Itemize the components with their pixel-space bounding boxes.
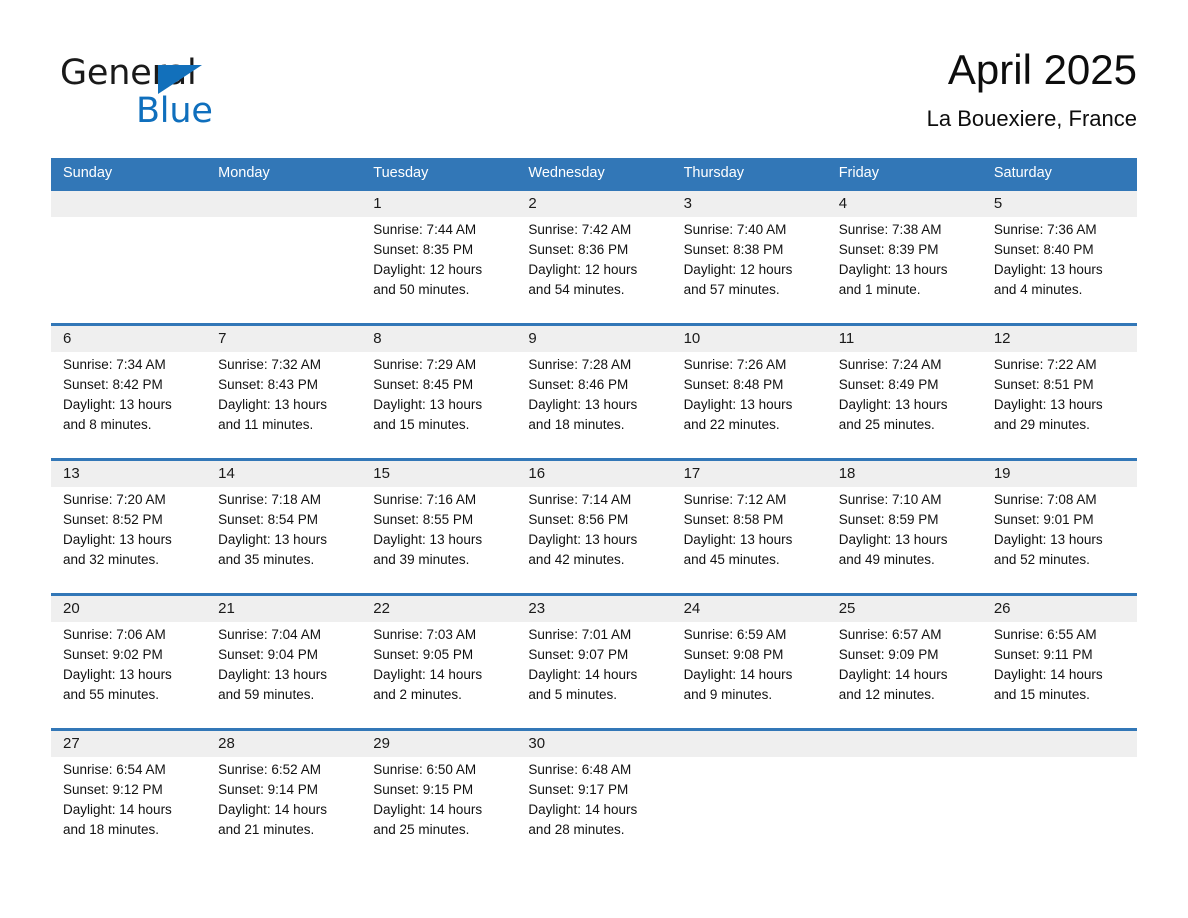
day-number: 5 xyxy=(994,191,1127,217)
day-number: 25 xyxy=(839,596,972,622)
weekday-header-saturday: Saturday xyxy=(982,158,1137,188)
day-number xyxy=(63,191,196,217)
day-details: Sunrise: 7:01 AM Sunset: 9:07 PM Dayligh… xyxy=(528,625,661,705)
day-cell[interactable]: 19 Sunrise: 7:08 AM Sunset: 9:01 PM Dayl… xyxy=(982,461,1137,593)
day-number: 2 xyxy=(528,191,661,217)
day-cell[interactable]: 18 Sunrise: 7:10 AM Sunset: 8:59 PM Dayl… xyxy=(827,461,982,593)
day-cell[interactable]: 13 Sunrise: 7:20 AM Sunset: 8:52 PM Dayl… xyxy=(51,461,206,593)
day-details: Sunrise: 6:59 AM Sunset: 9:08 PM Dayligh… xyxy=(684,625,817,705)
day-cell[interactable] xyxy=(827,731,982,851)
day-details: Sunrise: 7:40 AM Sunset: 8:38 PM Dayligh… xyxy=(684,220,817,300)
day-cell[interactable]: 4 Sunrise: 7:38 AM Sunset: 8:39 PM Dayli… xyxy=(827,191,982,323)
day-details: Sunrise: 7:28 AM Sunset: 8:46 PM Dayligh… xyxy=(528,355,661,435)
day-details: Sunrise: 7:32 AM Sunset: 8:43 PM Dayligh… xyxy=(218,355,351,435)
day-cell[interactable]: 2 Sunrise: 7:42 AM Sunset: 8:36 PM Dayli… xyxy=(516,191,671,323)
day-cell[interactable]: 3 Sunrise: 7:40 AM Sunset: 8:38 PM Dayli… xyxy=(672,191,827,323)
day-cell[interactable]: 23 Sunrise: 7:01 AM Sunset: 9:07 PM Dayl… xyxy=(516,596,671,728)
day-details: Sunrise: 7:44 AM Sunset: 8:35 PM Dayligh… xyxy=(373,220,506,300)
day-details: Sunrise: 7:34 AM Sunset: 8:42 PM Dayligh… xyxy=(63,355,196,435)
day-cell[interactable]: 8 Sunrise: 7:29 AM Sunset: 8:45 PM Dayli… xyxy=(361,326,516,458)
day-number: 24 xyxy=(684,596,817,622)
day-cell[interactable]: 15 Sunrise: 7:16 AM Sunset: 8:55 PM Dayl… xyxy=(361,461,516,593)
day-number: 6 xyxy=(63,326,196,352)
day-cell[interactable]: 9 Sunrise: 7:28 AM Sunset: 8:46 PM Dayli… xyxy=(516,326,671,458)
day-details: Sunrise: 6:55 AM Sunset: 9:11 PM Dayligh… xyxy=(994,625,1127,705)
day-cell[interactable]: 22 Sunrise: 7:03 AM Sunset: 9:05 PM Dayl… xyxy=(361,596,516,728)
weekday-header-wednesday: Wednesday xyxy=(516,158,671,188)
day-details: Sunrise: 7:03 AM Sunset: 9:05 PM Dayligh… xyxy=(373,625,506,705)
day-number: 20 xyxy=(63,596,196,622)
day-number: 30 xyxy=(528,731,661,757)
day-cell[interactable]: 21 Sunrise: 7:04 AM Sunset: 9:04 PM Dayl… xyxy=(206,596,361,728)
day-details: Sunrise: 7:26 AM Sunset: 8:48 PM Dayligh… xyxy=(684,355,817,435)
weekday-header-monday: Monday xyxy=(206,158,361,188)
day-cell[interactable]: 7 Sunrise: 7:32 AM Sunset: 8:43 PM Dayli… xyxy=(206,326,361,458)
calendar-week-row: 6 Sunrise: 7:34 AM Sunset: 8:42 PM Dayli… xyxy=(51,323,1137,458)
day-number xyxy=(218,191,351,217)
location-subtitle: La Bouexiere, France xyxy=(927,106,1137,132)
day-details: Sunrise: 6:50 AM Sunset: 9:15 PM Dayligh… xyxy=(373,760,506,840)
day-cell[interactable]: 30 Sunrise: 6:48 AM Sunset: 9:17 PM Dayl… xyxy=(516,731,671,851)
day-details: Sunrise: 7:20 AM Sunset: 8:52 PM Dayligh… xyxy=(63,490,196,570)
day-number: 23 xyxy=(528,596,661,622)
day-number xyxy=(994,731,1127,757)
day-number: 12 xyxy=(994,326,1127,352)
day-cell[interactable]: 1 Sunrise: 7:44 AM Sunset: 8:35 PM Dayli… xyxy=(361,191,516,323)
day-cell[interactable] xyxy=(982,731,1137,851)
day-number: 7 xyxy=(218,326,351,352)
calendar-week-row: 1 Sunrise: 7:44 AM Sunset: 8:35 PM Dayli… xyxy=(51,188,1137,323)
day-number: 26 xyxy=(994,596,1127,622)
day-cell[interactable]: 26 Sunrise: 6:55 AM Sunset: 9:11 PM Dayl… xyxy=(982,596,1137,728)
day-details: Sunrise: 6:57 AM Sunset: 9:09 PM Dayligh… xyxy=(839,625,972,705)
day-cell[interactable]: 25 Sunrise: 6:57 AM Sunset: 9:09 PM Dayl… xyxy=(827,596,982,728)
day-details: Sunrise: 7:16 AM Sunset: 8:55 PM Dayligh… xyxy=(373,490,506,570)
day-number: 1 xyxy=(373,191,506,217)
day-details: Sunrise: 7:24 AM Sunset: 8:49 PM Dayligh… xyxy=(839,355,972,435)
calendar-week-row: 13 Sunrise: 7:20 AM Sunset: 8:52 PM Dayl… xyxy=(51,458,1137,593)
weekday-header-friday: Friday xyxy=(827,158,982,188)
day-cell[interactable]: 29 Sunrise: 6:50 AM Sunset: 9:15 PM Dayl… xyxy=(361,731,516,851)
calendar-week-row: 27 Sunrise: 6:54 AM Sunset: 9:12 PM Dayl… xyxy=(51,728,1137,851)
day-details: Sunrise: 7:42 AM Sunset: 8:36 PM Dayligh… xyxy=(528,220,661,300)
day-cell[interactable]: 6 Sunrise: 7:34 AM Sunset: 8:42 PM Dayli… xyxy=(51,326,206,458)
day-number: 8 xyxy=(373,326,506,352)
day-cell[interactable] xyxy=(672,731,827,851)
day-cell[interactable] xyxy=(206,191,361,323)
day-number xyxy=(684,731,817,757)
day-number: 10 xyxy=(684,326,817,352)
day-number: 4 xyxy=(839,191,972,217)
day-number: 16 xyxy=(528,461,661,487)
day-number: 21 xyxy=(218,596,351,622)
calendar-table: Sunday Monday Tuesday Wednesday Thursday… xyxy=(51,158,1137,851)
day-cell[interactable]: 24 Sunrise: 6:59 AM Sunset: 9:08 PM Dayl… xyxy=(672,596,827,728)
day-cell[interactable]: 11 Sunrise: 7:24 AM Sunset: 8:49 PM Dayl… xyxy=(827,326,982,458)
day-number: 13 xyxy=(63,461,196,487)
day-details: Sunrise: 7:06 AM Sunset: 9:02 PM Dayligh… xyxy=(63,625,196,705)
day-cell[interactable]: 10 Sunrise: 7:26 AM Sunset: 8:48 PM Dayl… xyxy=(672,326,827,458)
day-cell[interactable]: 28 Sunrise: 6:52 AM Sunset: 9:14 PM Dayl… xyxy=(206,731,361,851)
calendar-week-row: 20 Sunrise: 7:06 AM Sunset: 9:02 PM Dayl… xyxy=(51,593,1137,728)
weekday-header-tuesday: Tuesday xyxy=(361,158,516,188)
day-cell[interactable]: 16 Sunrise: 7:14 AM Sunset: 8:56 PM Dayl… xyxy=(516,461,671,593)
day-cell[interactable] xyxy=(51,191,206,323)
day-number: 22 xyxy=(373,596,506,622)
calendar-page: General Blue April 2025 La Bouexiere, Fr… xyxy=(0,0,1188,918)
day-number xyxy=(839,731,972,757)
day-details: Sunrise: 7:14 AM Sunset: 8:56 PM Dayligh… xyxy=(528,490,661,570)
day-details: Sunrise: 7:12 AM Sunset: 8:58 PM Dayligh… xyxy=(684,490,817,570)
day-number: 29 xyxy=(373,731,506,757)
page-header: General Blue April 2025 La Bouexiere, Fr… xyxy=(51,44,1137,148)
day-number: 3 xyxy=(684,191,817,217)
day-cell[interactable]: 20 Sunrise: 7:06 AM Sunset: 9:02 PM Dayl… xyxy=(51,596,206,728)
day-number: 28 xyxy=(218,731,351,757)
title-block: April 2025 La Bouexiere, France xyxy=(927,44,1137,132)
day-number: 18 xyxy=(839,461,972,487)
day-details: Sunrise: 6:48 AM Sunset: 9:17 PM Dayligh… xyxy=(528,760,661,840)
day-number: 19 xyxy=(994,461,1127,487)
day-cell[interactable]: 27 Sunrise: 6:54 AM Sunset: 9:12 PM Dayl… xyxy=(51,731,206,851)
day-details: Sunrise: 7:04 AM Sunset: 9:04 PM Dayligh… xyxy=(218,625,351,705)
brand-logo: General Blue xyxy=(60,52,290,132)
day-details: Sunrise: 6:54 AM Sunset: 9:12 PM Dayligh… xyxy=(63,760,196,840)
weekday-header-sunday: Sunday xyxy=(51,158,206,188)
day-details: Sunrise: 7:10 AM Sunset: 8:59 PM Dayligh… xyxy=(839,490,972,570)
day-number: 17 xyxy=(684,461,817,487)
page-title: April 2025 xyxy=(927,44,1137,96)
weekday-header-thursday: Thursday xyxy=(672,158,827,188)
day-number: 27 xyxy=(63,731,196,757)
day-details: Sunrise: 6:52 AM Sunset: 9:14 PM Dayligh… xyxy=(218,760,351,840)
day-cell[interactable]: 12 Sunrise: 7:22 AM Sunset: 8:51 PM Dayl… xyxy=(982,326,1137,458)
day-details: Sunrise: 7:18 AM Sunset: 8:54 PM Dayligh… xyxy=(218,490,351,570)
day-details: Sunrise: 7:29 AM Sunset: 8:45 PM Dayligh… xyxy=(373,355,506,435)
day-number: 15 xyxy=(373,461,506,487)
brand-blue-text: Blue xyxy=(136,90,213,132)
day-cell[interactable]: 14 Sunrise: 7:18 AM Sunset: 8:54 PM Dayl… xyxy=(206,461,361,593)
weekday-header-row: Sunday Monday Tuesday Wednesday Thursday… xyxy=(51,158,1137,188)
day-details: Sunrise: 7:22 AM Sunset: 8:51 PM Dayligh… xyxy=(994,355,1127,435)
day-cell[interactable]: 5 Sunrise: 7:36 AM Sunset: 8:40 PM Dayli… xyxy=(982,191,1137,323)
day-number: 14 xyxy=(218,461,351,487)
day-cell[interactable]: 17 Sunrise: 7:12 AM Sunset: 8:58 PM Dayl… xyxy=(672,461,827,593)
day-details: Sunrise: 7:08 AM Sunset: 9:01 PM Dayligh… xyxy=(994,490,1127,570)
day-number: 11 xyxy=(839,326,972,352)
day-details: Sunrise: 7:36 AM Sunset: 8:40 PM Dayligh… xyxy=(994,220,1127,300)
day-details: Sunrise: 7:38 AM Sunset: 8:39 PM Dayligh… xyxy=(839,220,972,300)
day-number: 9 xyxy=(528,326,661,352)
